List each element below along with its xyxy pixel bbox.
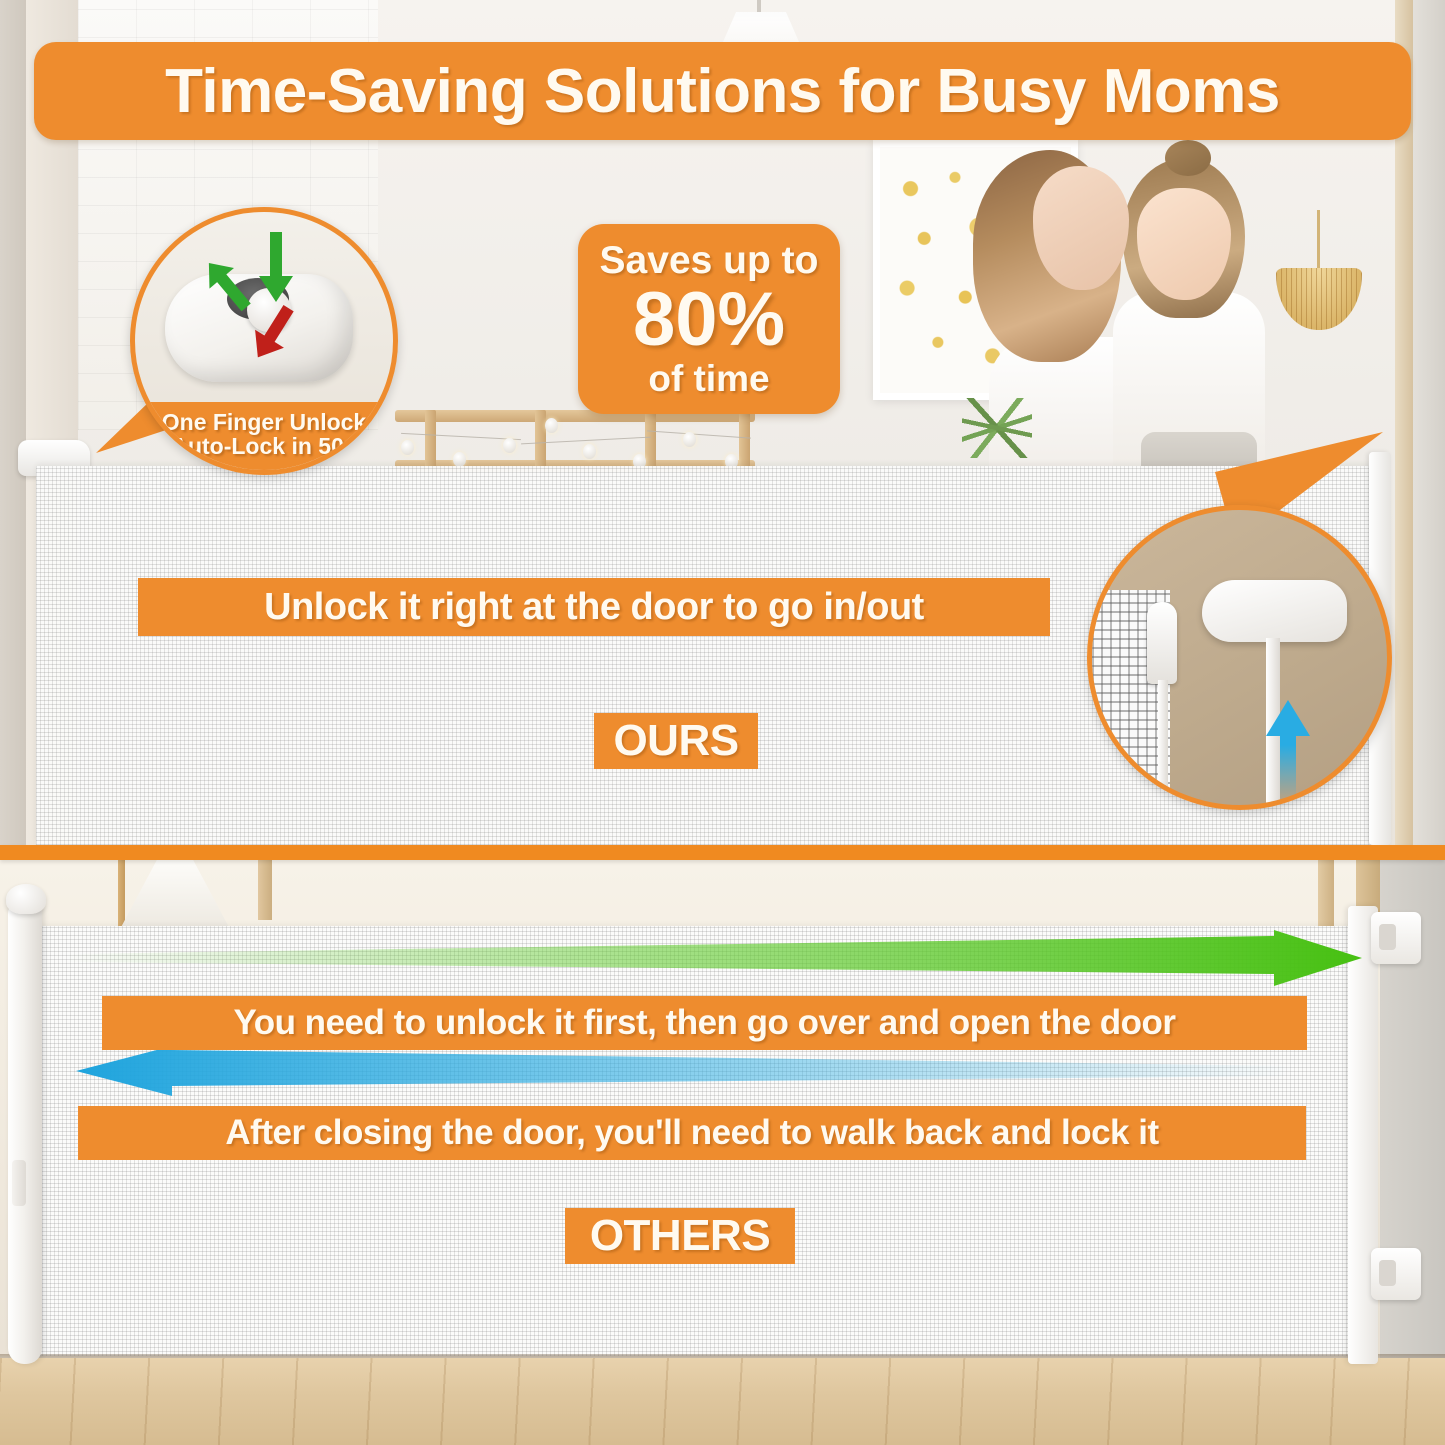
badge-line-3: of time <box>648 360 769 397</box>
arrow-down-right-red-icon <box>239 304 307 366</box>
label-ours: OURS <box>594 713 758 769</box>
gate-mesh-peg <box>1147 602 1177 684</box>
string-light-bulb <box>683 432 696 447</box>
product-infographic: Time-Saving Solutions for Busy Moms Save… <box>0 0 1445 1445</box>
gate-latch-housing <box>1202 580 1347 642</box>
string-light-bulb <box>453 452 466 467</box>
string-light-bulb <box>545 418 558 433</box>
ladder-rung <box>645 410 656 472</box>
page-title: Time-Saving Solutions for Busy Moms <box>34 42 1411 140</box>
ours-benefit-band: Unlock it right at the door to go in/out <box>138 578 1050 636</box>
rattan-lamp-cord <box>1317 210 1320 270</box>
potted-plant <box>962 398 1032 458</box>
wall-left-slab <box>0 0 26 845</box>
gate-housing-cap <box>6 884 46 914</box>
string-light-bulb <box>583 444 596 459</box>
gate-housing-post-left <box>8 898 42 1364</box>
string-light-wire <box>401 433 521 440</box>
callout-one-finger-unlock: One Finger Unlock Auto-Lock in 50s <box>130 207 398 475</box>
child-hair-bun <box>1165 140 1211 176</box>
wall-bracket-bottom <box>1371 1248 1421 1300</box>
label-others: OTHERS <box>565 1208 795 1264</box>
wood-post-left-bottom <box>258 860 272 920</box>
mother-face <box>1033 166 1129 290</box>
wall-right-slab <box>1413 0 1445 845</box>
string-light-bulb <box>503 438 516 453</box>
ladder-rung <box>739 410 750 472</box>
ladder-rung <box>425 410 436 472</box>
gate-housing-clip <box>12 1160 26 1206</box>
badge-line-1: Saves up to <box>600 241 819 280</box>
callout-latch-detail <box>1087 505 1392 810</box>
arrow-down-green-icon <box>253 232 299 304</box>
wood-post-right-bottom-2 <box>1318 860 1334 928</box>
callout-left-label-line1: One Finger Unlock <box>141 410 387 434</box>
gate-vertical-rod <box>1158 680 1168 810</box>
others-step-band-1: You need to unlock it first, then go ove… <box>102 996 1307 1050</box>
callout-left-label: One Finger Unlock Auto-Lock in 50s <box>135 402 393 470</box>
others-step-band-2: After closing the door, you'll need to w… <box>78 1106 1306 1160</box>
arrow-up-blue-icon <box>1258 700 1318 800</box>
string-light-bulb <box>401 440 414 455</box>
wooden-ladder-shelf <box>395 410 755 472</box>
wall-bracket-top <box>1371 912 1421 964</box>
ladder-rung <box>535 410 546 472</box>
saves-time-badge: Saves up to 80% of time <box>578 224 840 414</box>
panel-divider <box>0 845 1445 860</box>
wood-floor <box>0 1358 1445 1445</box>
callout-left-label-line2: Auto-Lock in 50s <box>141 434 387 458</box>
string-light-wire <box>647 430 751 438</box>
arrow-right-green-icon <box>66 930 1362 986</box>
floor-lamp-stand <box>118 860 125 926</box>
badge-percent-value: 80% <box>633 280 785 361</box>
arrow-left-blue-icon <box>76 1046 1294 1096</box>
